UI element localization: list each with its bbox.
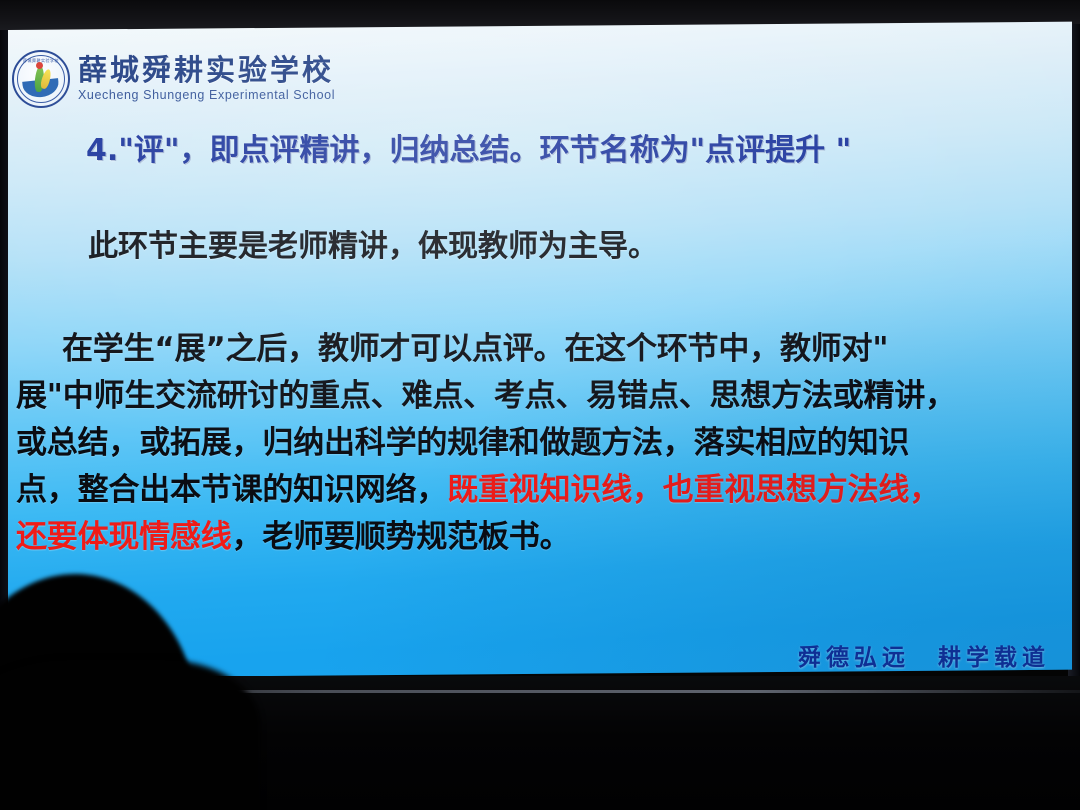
body-line: 展"中师生交流研讨的重点、难点、考点、易错点、思想方法或精讲， (16, 373, 1066, 420)
body-line: 还要体现情感线，老师要顺势规范板书。 (16, 514, 1066, 561)
slide-heading: 4."评"，即点评精讲，归纳总结。环节名称为"点评提升 " (86, 134, 1072, 168)
highlighted-text: 还要体现情感线 (16, 519, 232, 555)
school-name-en: Xuecheng Shungeng Experimental School (78, 89, 335, 102)
body-text: 展"中师生交流研讨的重点、难点、考点、易错点、思想方法或精讲， (16, 378, 956, 414)
audience-shoulder-silhouette (0, 660, 260, 810)
body-text: 或总结，或拓展，归纳出科学的规律和做题方法，落实相应的知识 (16, 425, 909, 461)
body-line: 在学生“展”之后，教师才可以点评。在这个环节中，教师对" (16, 326, 1066, 373)
body-text: 在学生“展”之后，教师才可以点评。在这个环节中，教师对" (62, 331, 888, 367)
highlighted-text: 既重视知识线，也重视思想方法线， (447, 472, 940, 508)
school-motto-footer: 舜德弘远 耕学载道 (798, 638, 1050, 672)
school-name-cn: 薛城舜耕实验学校 (78, 57, 335, 86)
body-text: 点，整合出本节课的知识网络， (16, 472, 447, 508)
slide-lead-paragraph: 此环节主要是老师精讲，体现教师为主导。 (88, 229, 658, 265)
school-crest-icon: 薛城舜耕实验学校 (12, 50, 70, 108)
presentation-slide: 薛城舜耕实验学校 薛城舜耕实验学校 Xuecheng Shungeng Expe… (8, 22, 1072, 678)
slide-body-paragraph: 在学生“展”之后，教师才可以点评。在这个环节中，教师对"展"中师生交流研讨的重点… (16, 326, 1066, 561)
body-text: ，老师要顺势规范板书。 (232, 519, 571, 555)
body-line: 点，整合出本节课的知识网络，既重视知识线，也重视思想方法线， (16, 467, 1066, 514)
photo-of-projection-screen: 薛城舜耕实验学校 薛城舜耕实验学校 Xuecheng Shungeng Expe… (0, 0, 1080, 810)
body-line: 或总结，或拓展，归纳出科学的规律和做题方法，落实相应的知识 (16, 420, 1066, 467)
school-branding: 薛城舜耕实验学校 薛城舜耕实验学校 Xuecheng Shungeng Expe… (12, 50, 335, 108)
